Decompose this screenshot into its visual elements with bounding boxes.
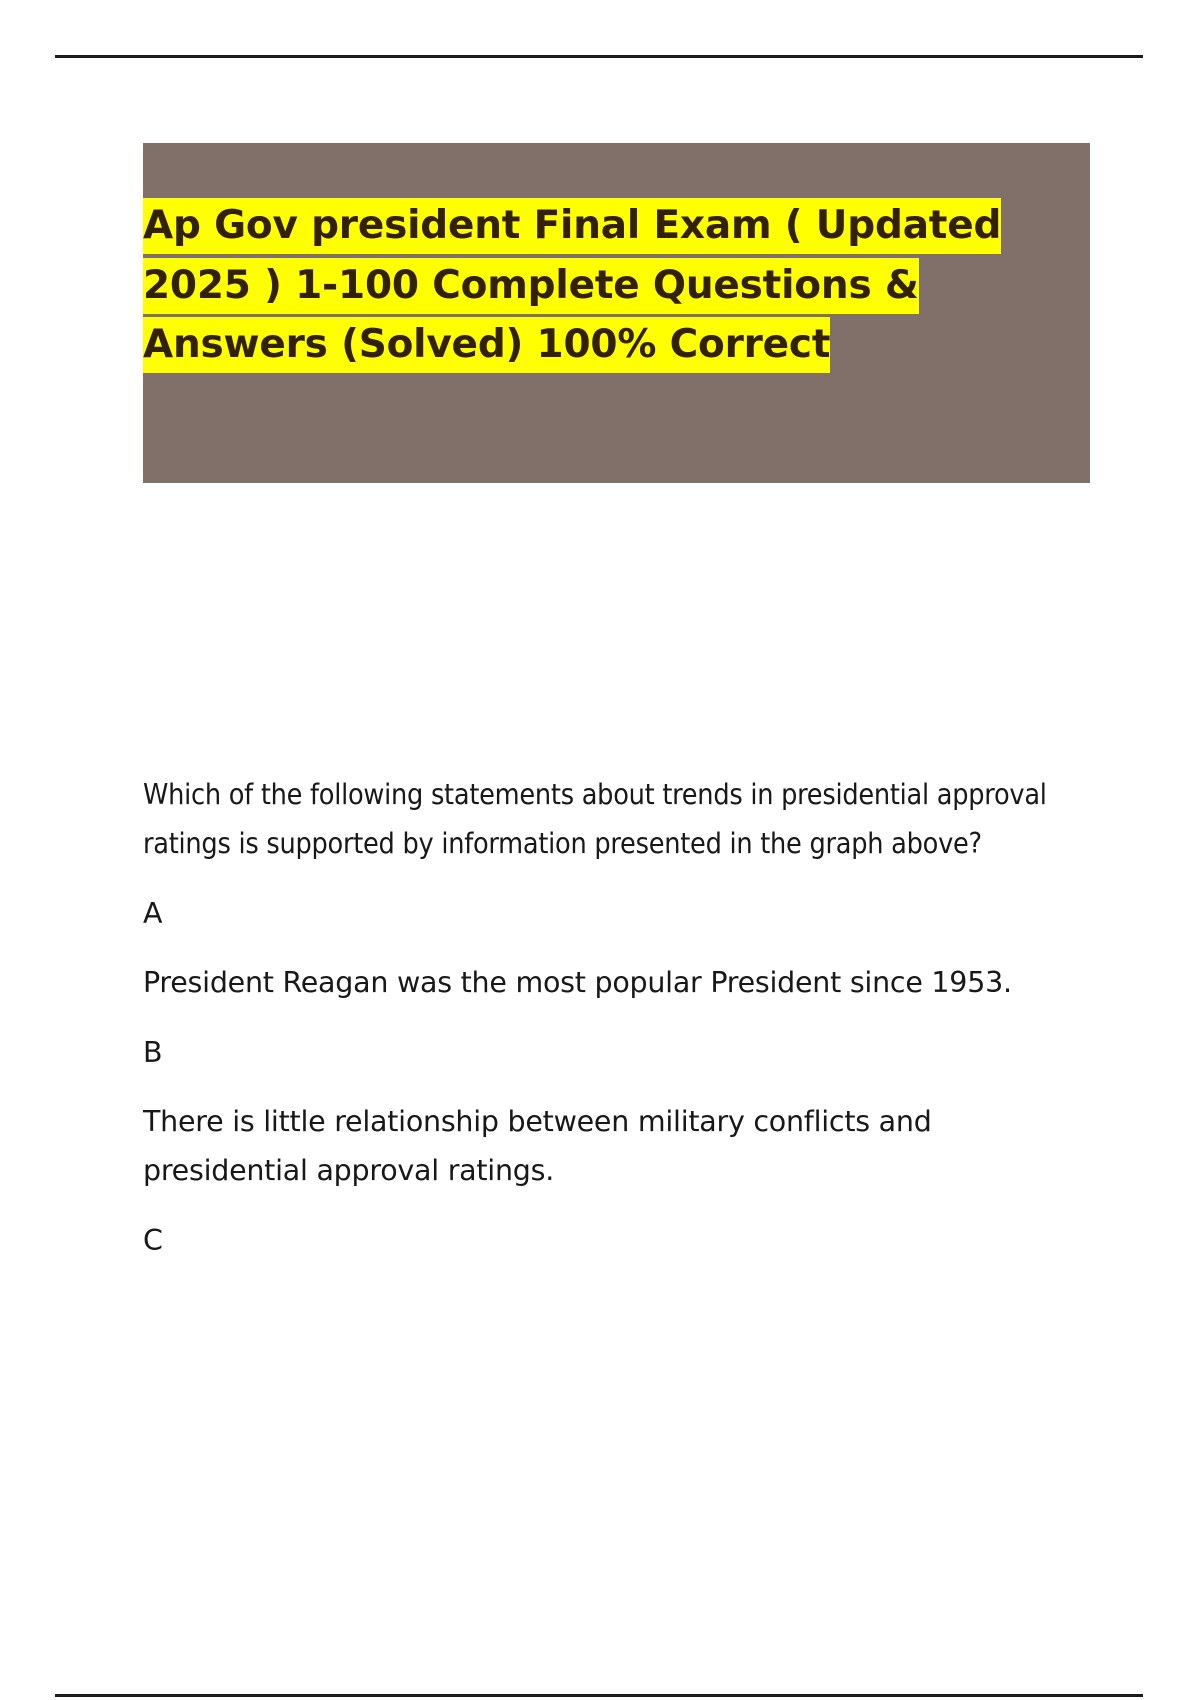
page-top-rule xyxy=(55,55,1143,58)
question-text: Which of the following statements about … xyxy=(143,770,1078,868)
title-line-3-text: Answers (Solved) 100% Correct xyxy=(143,317,830,373)
choice-letter-a[interactable]: A xyxy=(143,894,1078,934)
document-page: Ap Gov president Final Exam ( Updated 20… xyxy=(0,0,1200,1700)
choice-text-a[interactable]: President Reagan was the most popular Pr… xyxy=(143,958,1078,1007)
title-line-1: Ap Gov president Final Exam ( Updated xyxy=(143,198,1090,255)
choice-text-b[interactable]: There is little relationship between mil… xyxy=(143,1097,1078,1195)
title-banner: Ap Gov president Final Exam ( Updated 20… xyxy=(143,143,1090,483)
title-line-1-text: Ap Gov president Final Exam ( Updated xyxy=(143,198,1001,254)
title-lines: Ap Gov president Final Exam ( Updated 20… xyxy=(143,198,1090,374)
choice-letter-c[interactable]: C xyxy=(143,1221,1078,1261)
choice-letter-b[interactable]: B xyxy=(143,1033,1078,1073)
page-bottom-rule xyxy=(55,1694,1143,1697)
title-line-2: 2025 ) 1-100 Complete Questions & xyxy=(143,258,1090,315)
body-content: Which of the following statements about … xyxy=(143,770,1078,1285)
title-line-2-text: 2025 ) 1-100 Complete Questions & xyxy=(143,258,919,314)
title-line-3: Answers (Solved) 100% Correct xyxy=(143,317,1090,374)
